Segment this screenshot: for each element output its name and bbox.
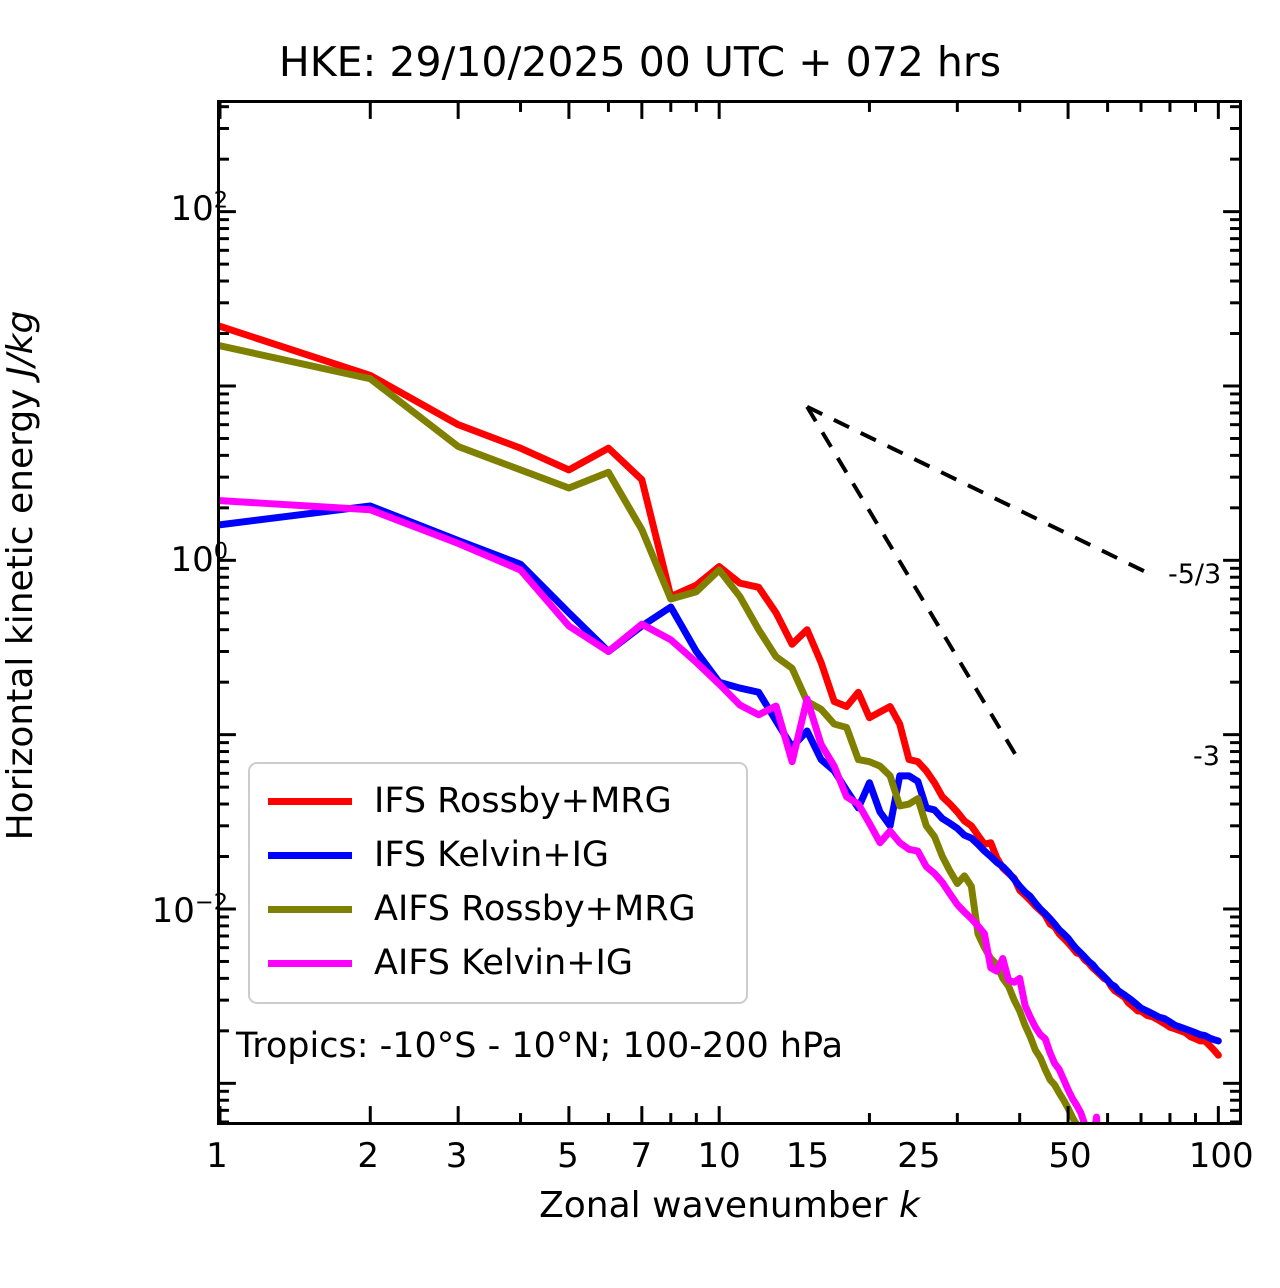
- series-line: [220, 346, 1125, 1122]
- y-tick-label-1: 100: [170, 540, 228, 580]
- y-tick-label-2: 10−2: [152, 891, 228, 931]
- x-tick-label-10: 10: [697, 1136, 740, 1176]
- x-tick-label-3: 3: [446, 1136, 468, 1176]
- reference-lines-layer: [807, 407, 1147, 762]
- chart-title: HKE: 29/10/2025 00 UTC + 072 hrs: [0, 38, 1280, 86]
- legend-item[interactable]: IFS Rossby+MRG: [264, 774, 732, 828]
- region-annotation: Tropics: -10°S - 10°N; 100-200 hPa: [236, 1026, 843, 1066]
- reference-slope-line: [807, 407, 1020, 762]
- x-axis-label-symbol: k: [899, 1185, 920, 1226]
- legend-label-aifs-rossby-mrg: AIFS Rossby+MRG: [374, 892, 696, 927]
- legend-item[interactable]: AIFS Kelvin+IG: [264, 936, 732, 990]
- legend-swatch-ifs-rossby-mrg: [268, 798, 352, 805]
- legend[interactable]: IFS Rossby+MRG IFS Kelvin+IG AIFS Rossby…: [248, 762, 748, 1004]
- x-tick-label-15: 15: [786, 1136, 829, 1176]
- y-tick-label-0: 102: [170, 189, 228, 229]
- x-tick-label-5: 5: [557, 1136, 579, 1176]
- x-tick-label-100: 100: [1189, 1136, 1254, 1176]
- legend-item[interactable]: AIFS Rossby+MRG: [264, 882, 732, 936]
- x-axis-label: Zonal wavenumber k: [217, 1185, 1242, 1226]
- legend-item[interactable]: IFS Kelvin+IG: [264, 828, 732, 882]
- x-tick-label-1: 1: [206, 1136, 228, 1176]
- x-tick-label-2: 2: [357, 1136, 379, 1176]
- legend-label-ifs-rossby-mrg: IFS Rossby+MRG: [374, 784, 672, 819]
- legend-label-aifs-kelvin-ig: AIFS Kelvin+IG: [374, 946, 633, 981]
- y-axis-label-units: J/kg: [0, 311, 41, 377]
- x-tick-label-50: 50: [1048, 1136, 1091, 1176]
- y-axis-label-main: Horizontal kinetic energy: [0, 377, 41, 840]
- x-tick-label-7: 7: [631, 1136, 653, 1176]
- legend-swatch-aifs-rossby-mrg: [268, 906, 352, 913]
- chart-page: HKE: 29/10/2025 00 UTC + 072 hrs -5/3 -3…: [0, 0, 1280, 1288]
- y-axis-label: Horizontal kinetic energy J/kg: [0, 63, 41, 1088]
- legend-swatch-ifs-kelvin-ig: [268, 852, 352, 859]
- x-tick-label-25: 25: [897, 1136, 940, 1176]
- slope-label-five-thirds: -5/3: [1168, 559, 1221, 590]
- slope-label-minus-three: -3: [1193, 741, 1220, 772]
- x-axis-label-main: Zonal wavenumber: [539, 1185, 899, 1226]
- legend-label-ifs-kelvin-ig: IFS Kelvin+IG: [374, 838, 609, 873]
- legend-swatch-aifs-kelvin-ig: [268, 960, 352, 967]
